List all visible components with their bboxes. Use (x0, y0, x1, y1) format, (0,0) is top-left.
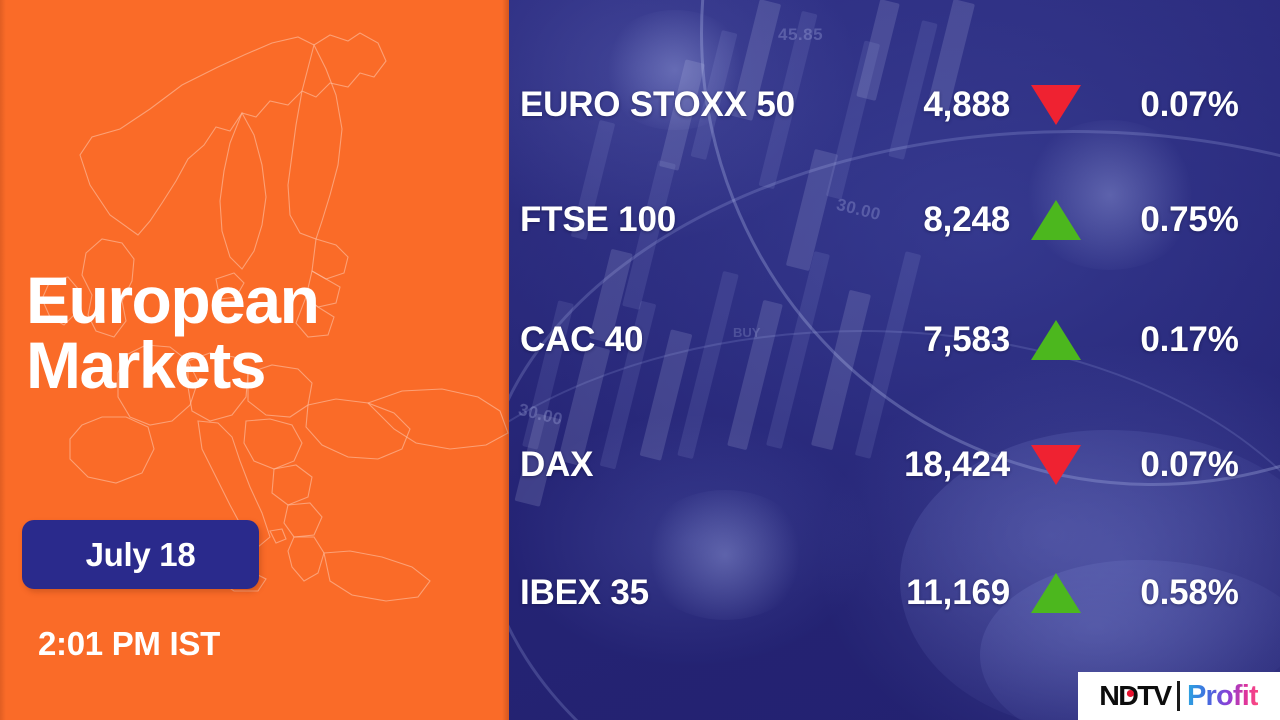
orange-title-panel: European Markets July 18 2:01 PM IST (0, 0, 509, 720)
arrow-down-icon (1031, 445, 1081, 485)
table-row: IBEX 35 11,169 0.58% (520, 558, 1280, 628)
page-title: European Markets (26, 268, 318, 399)
index-value: 4,888 (860, 85, 1010, 125)
table-row: CAC 40 7,583 0.17% (520, 305, 1280, 375)
title-line-2: Markets (26, 333, 318, 398)
index-change: 0.75% (1102, 200, 1277, 240)
index-change: 0.07% (1102, 85, 1277, 125)
index-change: 0.07% (1102, 445, 1277, 485)
date-label: July 18 (86, 536, 196, 574)
ndtv-profit-logo: NDTV Profit (1078, 672, 1280, 720)
index-name: CAC 40 (520, 320, 860, 360)
arrow-up-icon (1031, 320, 1081, 360)
direction-cell (1010, 200, 1102, 240)
arrow-up-icon (1031, 200, 1081, 240)
ndtv-text: NDTV (1099, 680, 1170, 711)
index-name: EURO STOXX 50 (520, 85, 860, 125)
table-row: DAX 18,424 0.07% (520, 430, 1280, 500)
logo-divider (1177, 681, 1180, 711)
profit-wordmark: Profit (1187, 680, 1258, 713)
table-row: EURO STOXX 50 4,888 0.07% (520, 70, 1280, 140)
arrow-down-icon (1031, 85, 1081, 125)
index-value: 11,169 (860, 573, 1010, 613)
arrow-up-icon (1031, 573, 1081, 613)
index-name: IBEX 35 (520, 573, 860, 613)
title-line-1: European (26, 263, 318, 337)
time-label: 2:01 PM IST (38, 625, 220, 663)
index-value: 8,248 (860, 200, 1010, 240)
market-summary-card: 45.85 30.00 30.00 BUY EURO STOXX 50 4,88… (0, 0, 1280, 720)
index-value: 18,424 (860, 445, 1010, 485)
index-change: 0.58% (1102, 573, 1277, 613)
direction-cell (1010, 573, 1102, 613)
index-value: 7,583 (860, 320, 1010, 360)
date-badge: July 18 (22, 520, 259, 589)
index-change: 0.17% (1102, 320, 1277, 360)
table-row: FTSE 100 8,248 0.75% (520, 185, 1280, 255)
index-name: FTSE 100 (520, 200, 860, 240)
ndtv-wordmark: NDTV (1099, 680, 1170, 712)
direction-cell (1010, 85, 1102, 125)
index-name: DAX (520, 445, 860, 485)
direction-cell (1010, 445, 1102, 485)
direction-cell (1010, 320, 1102, 360)
